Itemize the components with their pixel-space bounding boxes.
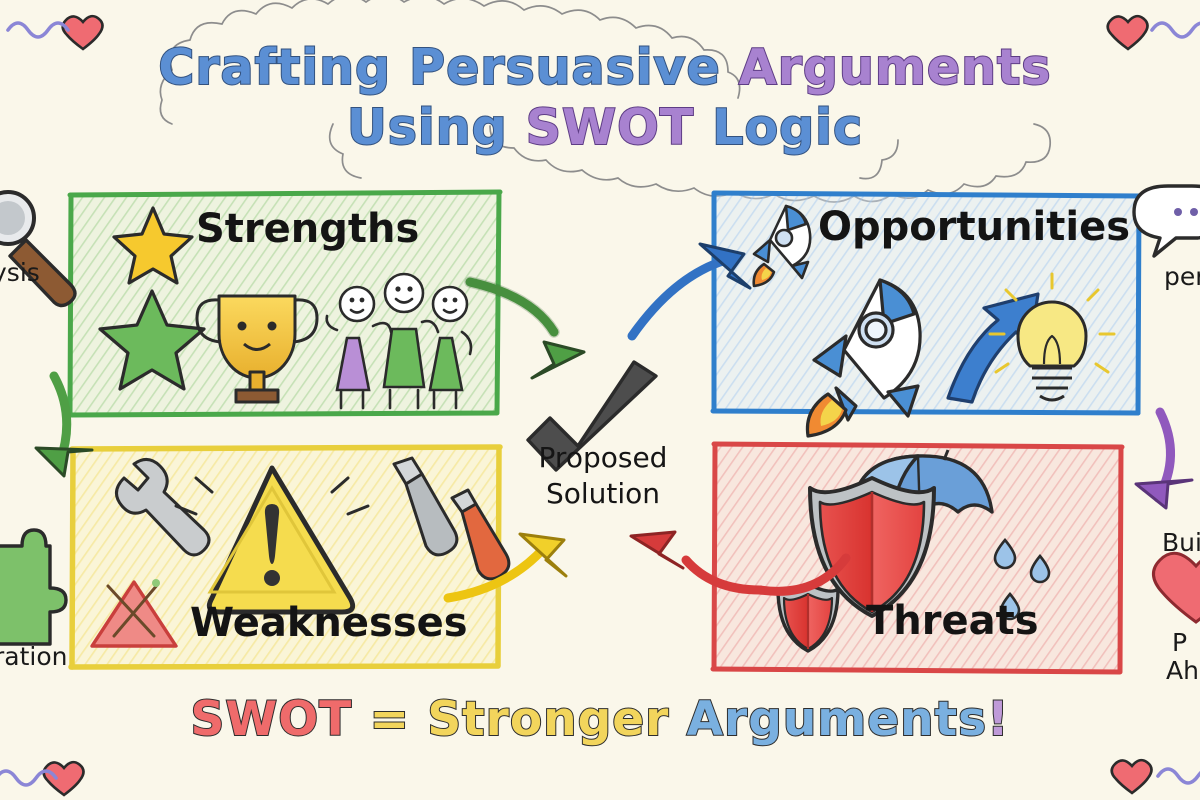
heart-icon-bottom-right: [1112, 760, 1152, 793]
heart-icon-right-edge: [1153, 553, 1200, 622]
center-line-1: Proposed: [508, 440, 698, 476]
quadrant-label-weaknesses: Weaknesses: [190, 600, 468, 646]
quadrant-label-strengths: Strengths: [196, 206, 419, 252]
puzzle-piece-icon: [0, 530, 66, 644]
analysis-label: ysis: [0, 258, 40, 287]
swot-diagram-canvas: Crafting Persuasive Arguments Using SWOT…: [0, 0, 1200, 800]
build-label: Build: [1162, 528, 1200, 557]
title-cloud-outline: [160, 0, 1050, 202]
heart-icon-top-right: [1108, 16, 1148, 49]
footer-part-swot: SWOT: [191, 692, 353, 747]
heart-icon-top-left: [63, 16, 103, 49]
arrow-right-edge-down: [1136, 412, 1192, 508]
squiggle-bottom-right: [1158, 769, 1200, 783]
quadrant-label-opportunities: Opportunities: [818, 204, 1130, 250]
magnifier-icon: [0, 192, 75, 306]
p-label: P: [1172, 628, 1187, 657]
footer-part-arguments: Arguments: [669, 692, 987, 747]
footer-tagline: SWOT = Stronger Arguments!: [0, 692, 1200, 747]
footer-part-equals: =: [352, 692, 427, 747]
persuasion-label: pers: [1164, 262, 1200, 291]
footer-part-stronger: Stronger: [427, 692, 669, 747]
squiggle-top-right: [1152, 23, 1200, 37]
people-group-icon: [327, 274, 471, 408]
center-line-2: Solution: [508, 476, 698, 512]
heart-icon-bottom-left: [44, 762, 84, 795]
ah-label: Ah: [1166, 656, 1199, 685]
squiggle-top-left: [8, 23, 68, 37]
footer-part-bang: !: [987, 692, 1009, 747]
speech-bubble-icon: [1134, 186, 1200, 256]
center-node[interactable]: Proposed Solution: [508, 440, 698, 512]
integration-label: ration: [0, 642, 68, 671]
quadrant-label-threats: Threats: [866, 598, 1039, 644]
diagram-graphics-layer: [0, 0, 1200, 800]
